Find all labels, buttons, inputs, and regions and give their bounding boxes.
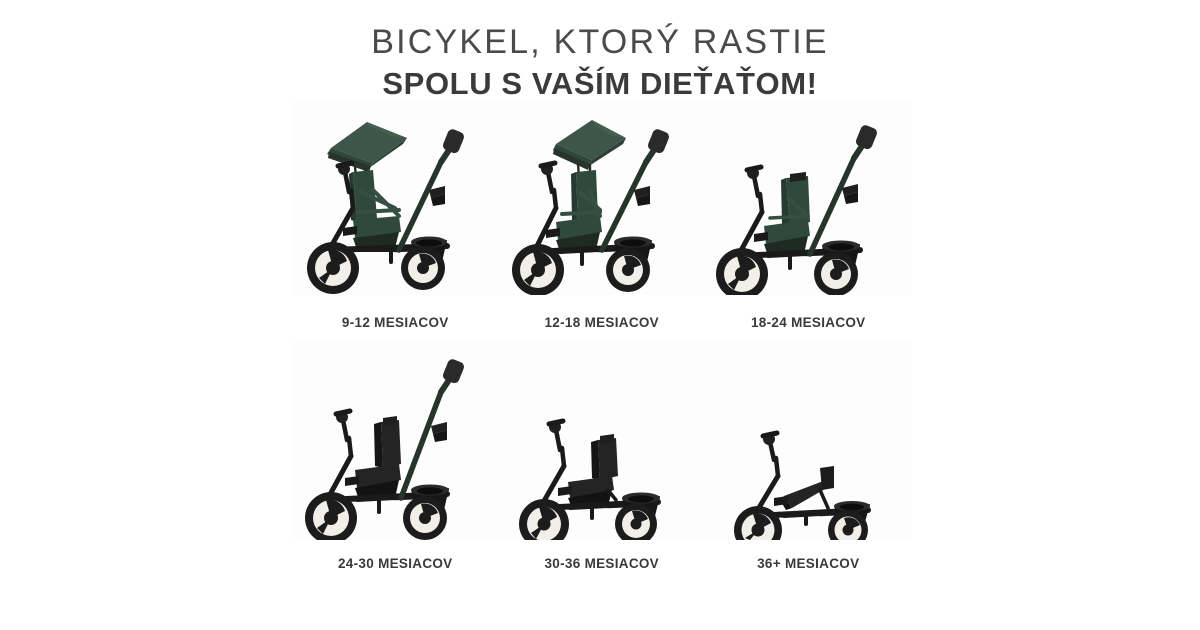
- push-handle: [401, 358, 465, 498]
- stage-photo-9-12: [292, 100, 499, 295]
- stage-caption-24-30: 24-30 MESIACOV: [338, 556, 453, 571]
- tricycle-illustration-24-30: [295, 340, 495, 540]
- stage-caption-18-24: 18-24 MESIACOV: [751, 315, 866, 330]
- wheel-front: [307, 242, 359, 294]
- stage-photo-18-24: [705, 100, 912, 295]
- wheel-rear: [403, 496, 447, 540]
- stage-caption-9-12: 9-12 MESIACOV: [342, 315, 449, 330]
- headline: BICYKEL, KTORÝ RASTIE SPOLU S VAŠÍM DIEŤ…: [0, 22, 1200, 103]
- stage-photo-30-36: [499, 340, 706, 540]
- handlebar: [549, 421, 563, 450]
- push-handle: [399, 128, 465, 250]
- stage-photo-36-plus: [705, 340, 912, 540]
- wheel-rear: [401, 246, 445, 290]
- seat-backrest: [591, 434, 618, 480]
- stage-cell-12-18[interactable]: 12-18 MESIACOV: [499, 100, 706, 340]
- handlebar: [747, 167, 761, 196]
- handlebar: [336, 411, 350, 440]
- stage-cell-9-12[interactable]: 9-12 MESIACOV: [292, 100, 499, 340]
- stage-grid: 9-12 MESIACOV: [292, 100, 912, 585]
- tricycle-illustration-9-12: [295, 100, 495, 295]
- wheel-front: [512, 244, 564, 295]
- seat-backrest: [374, 416, 401, 468]
- stage-cell-30-36[interactable]: 30-36 MESIACOV: [499, 340, 706, 585]
- stage-photo-24-30: [292, 340, 499, 540]
- canopy: [553, 120, 626, 170]
- handlebar: [541, 163, 555, 192]
- wheel-rear: [606, 248, 650, 292]
- stage-caption-36-plus: 36+ MESIACOV: [757, 556, 859, 571]
- stage-cell-24-30[interactable]: 24-30 MESIACOV: [292, 340, 499, 585]
- tricycle-illustration-36-plus: [723, 340, 893, 540]
- headline-line-1: BICYKEL, KTORÝ RASTIE: [0, 22, 1200, 63]
- stage-row-bottom: 24-30 MESIACOV: [292, 340, 912, 585]
- headline-line-2: SPOLU S VAŠÍM DIEŤAŤOM!: [0, 65, 1200, 103]
- wheel-front: [734, 506, 782, 540]
- promo-banner: BICYKEL, KTORÝ RASTIE SPOLU S VAŠÍM DIEŤ…: [0, 0, 1200, 630]
- stage-cell-18-24[interactable]: 18-24 MESIACOV: [705, 100, 912, 340]
- stage-photo-12-18: [499, 100, 706, 295]
- stage-caption-12-18: 12-18 MESIACOV: [545, 315, 660, 330]
- stage-cell-36-plus[interactable]: 36+ MESIACOV: [705, 340, 912, 585]
- stage-row-top: 9-12 MESIACOV: [292, 100, 912, 340]
- stage-caption-30-36: 30-36 MESIACOV: [545, 556, 660, 571]
- push-handle: [810, 124, 878, 254]
- handlebar: [763, 433, 777, 460]
- tricycle-illustration-18-24: [708, 100, 908, 295]
- tricycle-illustration-30-36: [512, 340, 692, 540]
- wheel-rear: [814, 252, 858, 295]
- tricycle-illustration-12-18: [502, 100, 702, 295]
